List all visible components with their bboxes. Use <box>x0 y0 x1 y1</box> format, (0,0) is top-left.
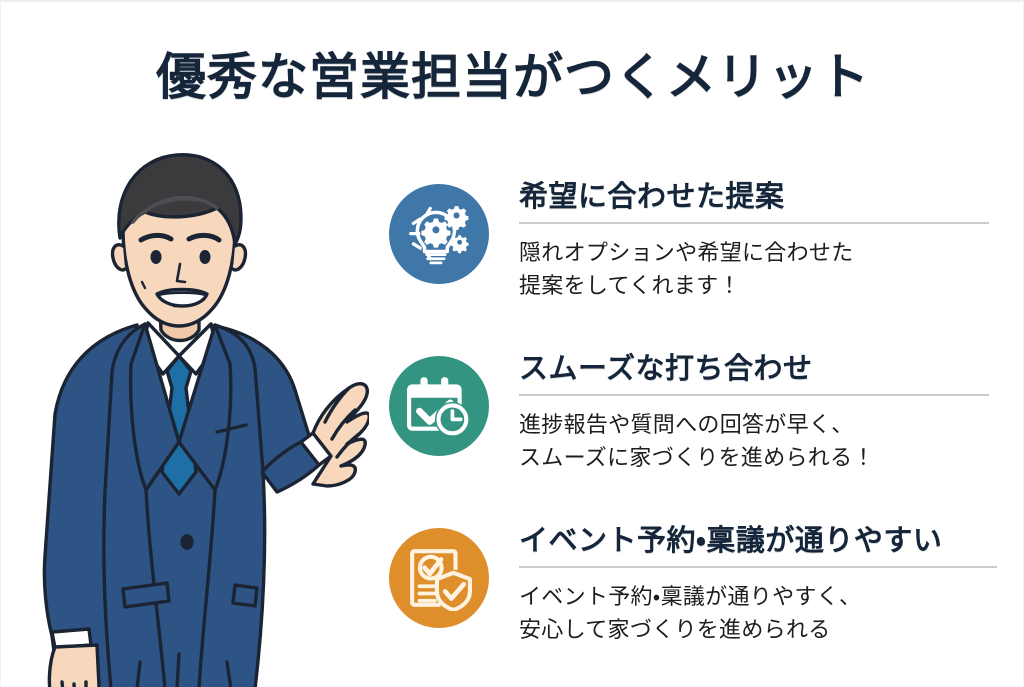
benefit-description: 進捗報告や質問への回答が早く、 スムーズに家づくりを進められる！ <box>519 408 1009 474</box>
benefit-item-proposal: 希望に合わせた提案 隠れオプションや希望に合わせた 提案をしてくれます！ <box>389 178 1009 350</box>
benefit-description-line: 隠れオプションや希望に合わせた <box>519 236 1009 269</box>
benefit-description-line: スムーズに家づくりを進められる！ <box>519 441 1009 474</box>
benefit-text-block: 希望に合わせた提案 隠れオプションや希望に合わせた 提案をしてくれます！ <box>519 178 1009 302</box>
benefit-description-line: 提案をしてくれます！ <box>519 269 1009 302</box>
benefit-description-line: 安心して家づくりを進められる <box>519 613 1009 646</box>
benefit-item-approval: イベント予約・稟議が通りやすい イベント予約・稟議が通りやすく、 安心して家づく… <box>389 522 1009 687</box>
calendar-clock-check-icon <box>389 356 489 456</box>
benefit-description: イベント予約・稟議が通りやすく、 安心して家づくりを進められる <box>519 580 1009 646</box>
benefit-divider <box>519 222 989 224</box>
benefit-description-line: イベント予約・稟議が通りやすく、 <box>519 580 1009 613</box>
document-shield-check-icon <box>389 528 489 628</box>
benefit-item-meeting: スムーズな打ち合わせ 進捗報告や質問への回答が早く、 スムーズに家づくりを進めら… <box>389 350 1009 522</box>
benefits-list: 希望に合わせた提案 隠れオプションや希望に合わせた 提案をしてくれます！ <box>389 178 1009 687</box>
benefit-divider <box>519 394 989 396</box>
businessman-illustration <box>19 142 369 687</box>
benefit-divider <box>519 566 997 568</box>
lightbulb-gears-icon <box>389 184 489 284</box>
page-title: 優秀な営業担当がつくメリット <box>1 46 1024 108</box>
benefit-description-line: 進捗報告や質問への回答が早く、 <box>519 408 1009 441</box>
benefit-text-block: イベント予約・稟議が通りやすい イベント予約・稟議が通りやすく、 安心して家づく… <box>519 522 1009 646</box>
benefit-heading: 希望に合わせた提案 <box>519 178 1009 216</box>
benefit-heading: イベント予約・稟議が通りやすい <box>519 522 1009 560</box>
benefit-heading: スムーズな打ち合わせ <box>519 350 1009 388</box>
infographic-slide: 優秀な営業担当がつくメリット <box>0 0 1024 687</box>
benefit-text-block: スムーズな打ち合わせ 進捗報告や質問への回答が早く、 スムーズに家づくりを進めら… <box>519 350 1009 474</box>
benefit-description: 隠れオプションや希望に合わせた 提案をしてくれます！ <box>519 236 1009 302</box>
